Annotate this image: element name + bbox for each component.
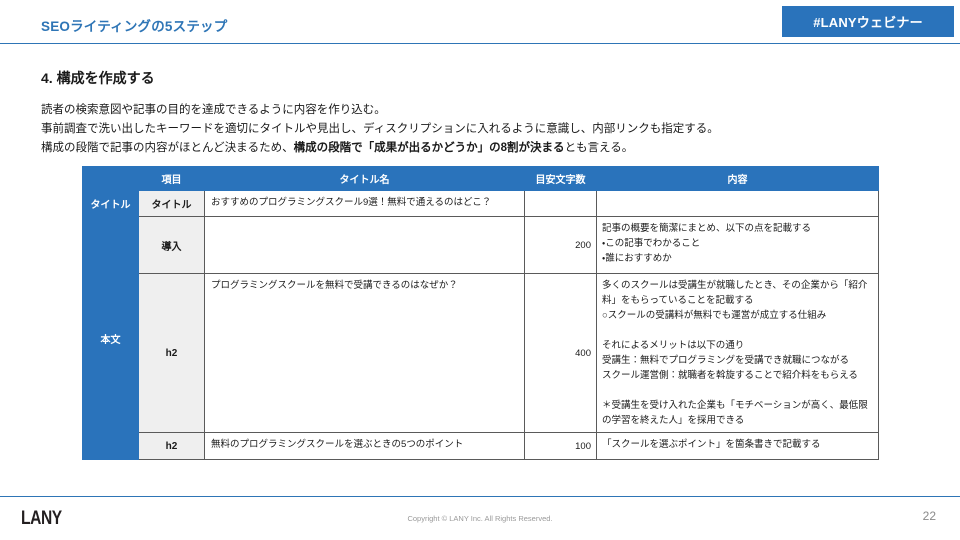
row-detail-text-1: 記事の概要を簡潔にまとめ、以下の点を記載する ・この記事でわかること ・誰におす…	[602, 223, 811, 264]
column-header-detail: 内容	[597, 167, 879, 191]
column-header-group	[83, 167, 139, 191]
row-detail-text-2: 多くのスクールは受講生が就職したとき、その企業から「紹介 料」をもらっていること…	[602, 280, 868, 426]
webinar-badge: #LANYウェビナー	[782, 6, 954, 37]
table-row: h2 無料のプログラミングスクールを選ぶときの5つのポイント 100 「スクール…	[83, 433, 879, 460]
column-header-item: 項目	[139, 167, 205, 191]
lead-line-3-suffix: とも言える。	[565, 142, 634, 154]
row-item-3: h2	[139, 433, 205, 460]
lead-line-2: 事前調査で洗い出したキーワードを適切にタイトルや見出し、ディスクリプションに入れ…	[41, 120, 921, 139]
row-count-2: 400	[525, 274, 597, 433]
column-header-count: 目安文字数	[525, 167, 597, 191]
header-divider	[0, 43, 960, 44]
column-header-title: タイトル名	[205, 167, 525, 191]
lead-line-1: 読者の検索意図や記事の目的を達成できるように内容を作り込む。	[41, 101, 921, 120]
table-row: 本文 導入 200 記事の概要を簡潔にまとめ、以下の点を記載する ・この記事でわ…	[83, 217, 879, 274]
row-title-2: プログラミングスクールを無料で受講できるのはなぜか？	[205, 274, 525, 433]
row-detail-2: 多くのスクールは受講生が就職したとき、その企業から「紹介 料」をもらっていること…	[597, 274, 879, 433]
page-number: 22	[923, 509, 936, 523]
group-label-title: タイトル	[83, 191, 139, 217]
row-detail-3: 「スクールを選ぶポイント」を箇条書きで記載する	[597, 433, 879, 460]
row-item-1: 導入	[139, 217, 205, 274]
row-count-0	[525, 191, 597, 217]
table-row: h2 プログラミングスクールを無料で受講できるのはなぜか？ 400 多くのスクー…	[83, 274, 879, 433]
copyright-text: Copyright © LANY Inc. All Rights Reserve…	[0, 514, 960, 523]
table-row: タイトル タイトル おすすめのプログラミングスクール9選！無料で通えるのはどこ？	[83, 191, 879, 217]
page-title: SEOライティングの5ステップ	[41, 15, 227, 35]
table-header-row: 項目 タイトル名 目安文字数 内容	[83, 167, 879, 191]
lead-line-3: 構成の段階で記事の内容がほとんど決まるため、構成の段階で「成果が出るかどうか」の…	[41, 139, 921, 158]
row-title-1	[205, 217, 525, 274]
row-item-0: タイトル	[139, 191, 205, 217]
row-title-3: 無料のプログラミングスクールを選ぶときの5つのポイント	[205, 433, 525, 460]
row-detail-text-3: 「スクールを選ぶポイント」を箇条書きで記載する	[602, 439, 821, 450]
section-heading: 4. 構成を作成する	[41, 68, 155, 88]
lead-line-3-emphasis: 構成の段階で「成果が出るかどうか」の8割が決まる	[294, 142, 565, 154]
row-count-3: 100	[525, 433, 597, 460]
row-item-2: h2	[139, 274, 205, 433]
lead-line-3-prefix: 構成の段階で記事の内容がほとんど決まるため、	[41, 142, 294, 154]
group-label-body: 本文	[83, 217, 139, 460]
slide-header: SEOライティングの5ステップ #LANYウェビナー	[0, 0, 960, 44]
row-detail-1: 記事の概要を簡潔にまとめ、以下の点を記載する ・この記事でわかること ・誰におす…	[597, 217, 879, 274]
row-detail-0	[597, 191, 879, 217]
footer-divider	[0, 496, 960, 497]
row-count-1: 200	[525, 217, 597, 274]
row-title-0: おすすめのプログラミングスクール9選！無料で通えるのはどこ？	[205, 191, 525, 217]
article-outline-table: 項目 タイトル名 目安文字数 内容 タイトル タイトル おすすめのプログラミング…	[82, 166, 879, 460]
lead-paragraph: 読者の検索意図や記事の目的を達成できるように内容を作り込む。 事前調査で洗い出し…	[41, 101, 921, 158]
